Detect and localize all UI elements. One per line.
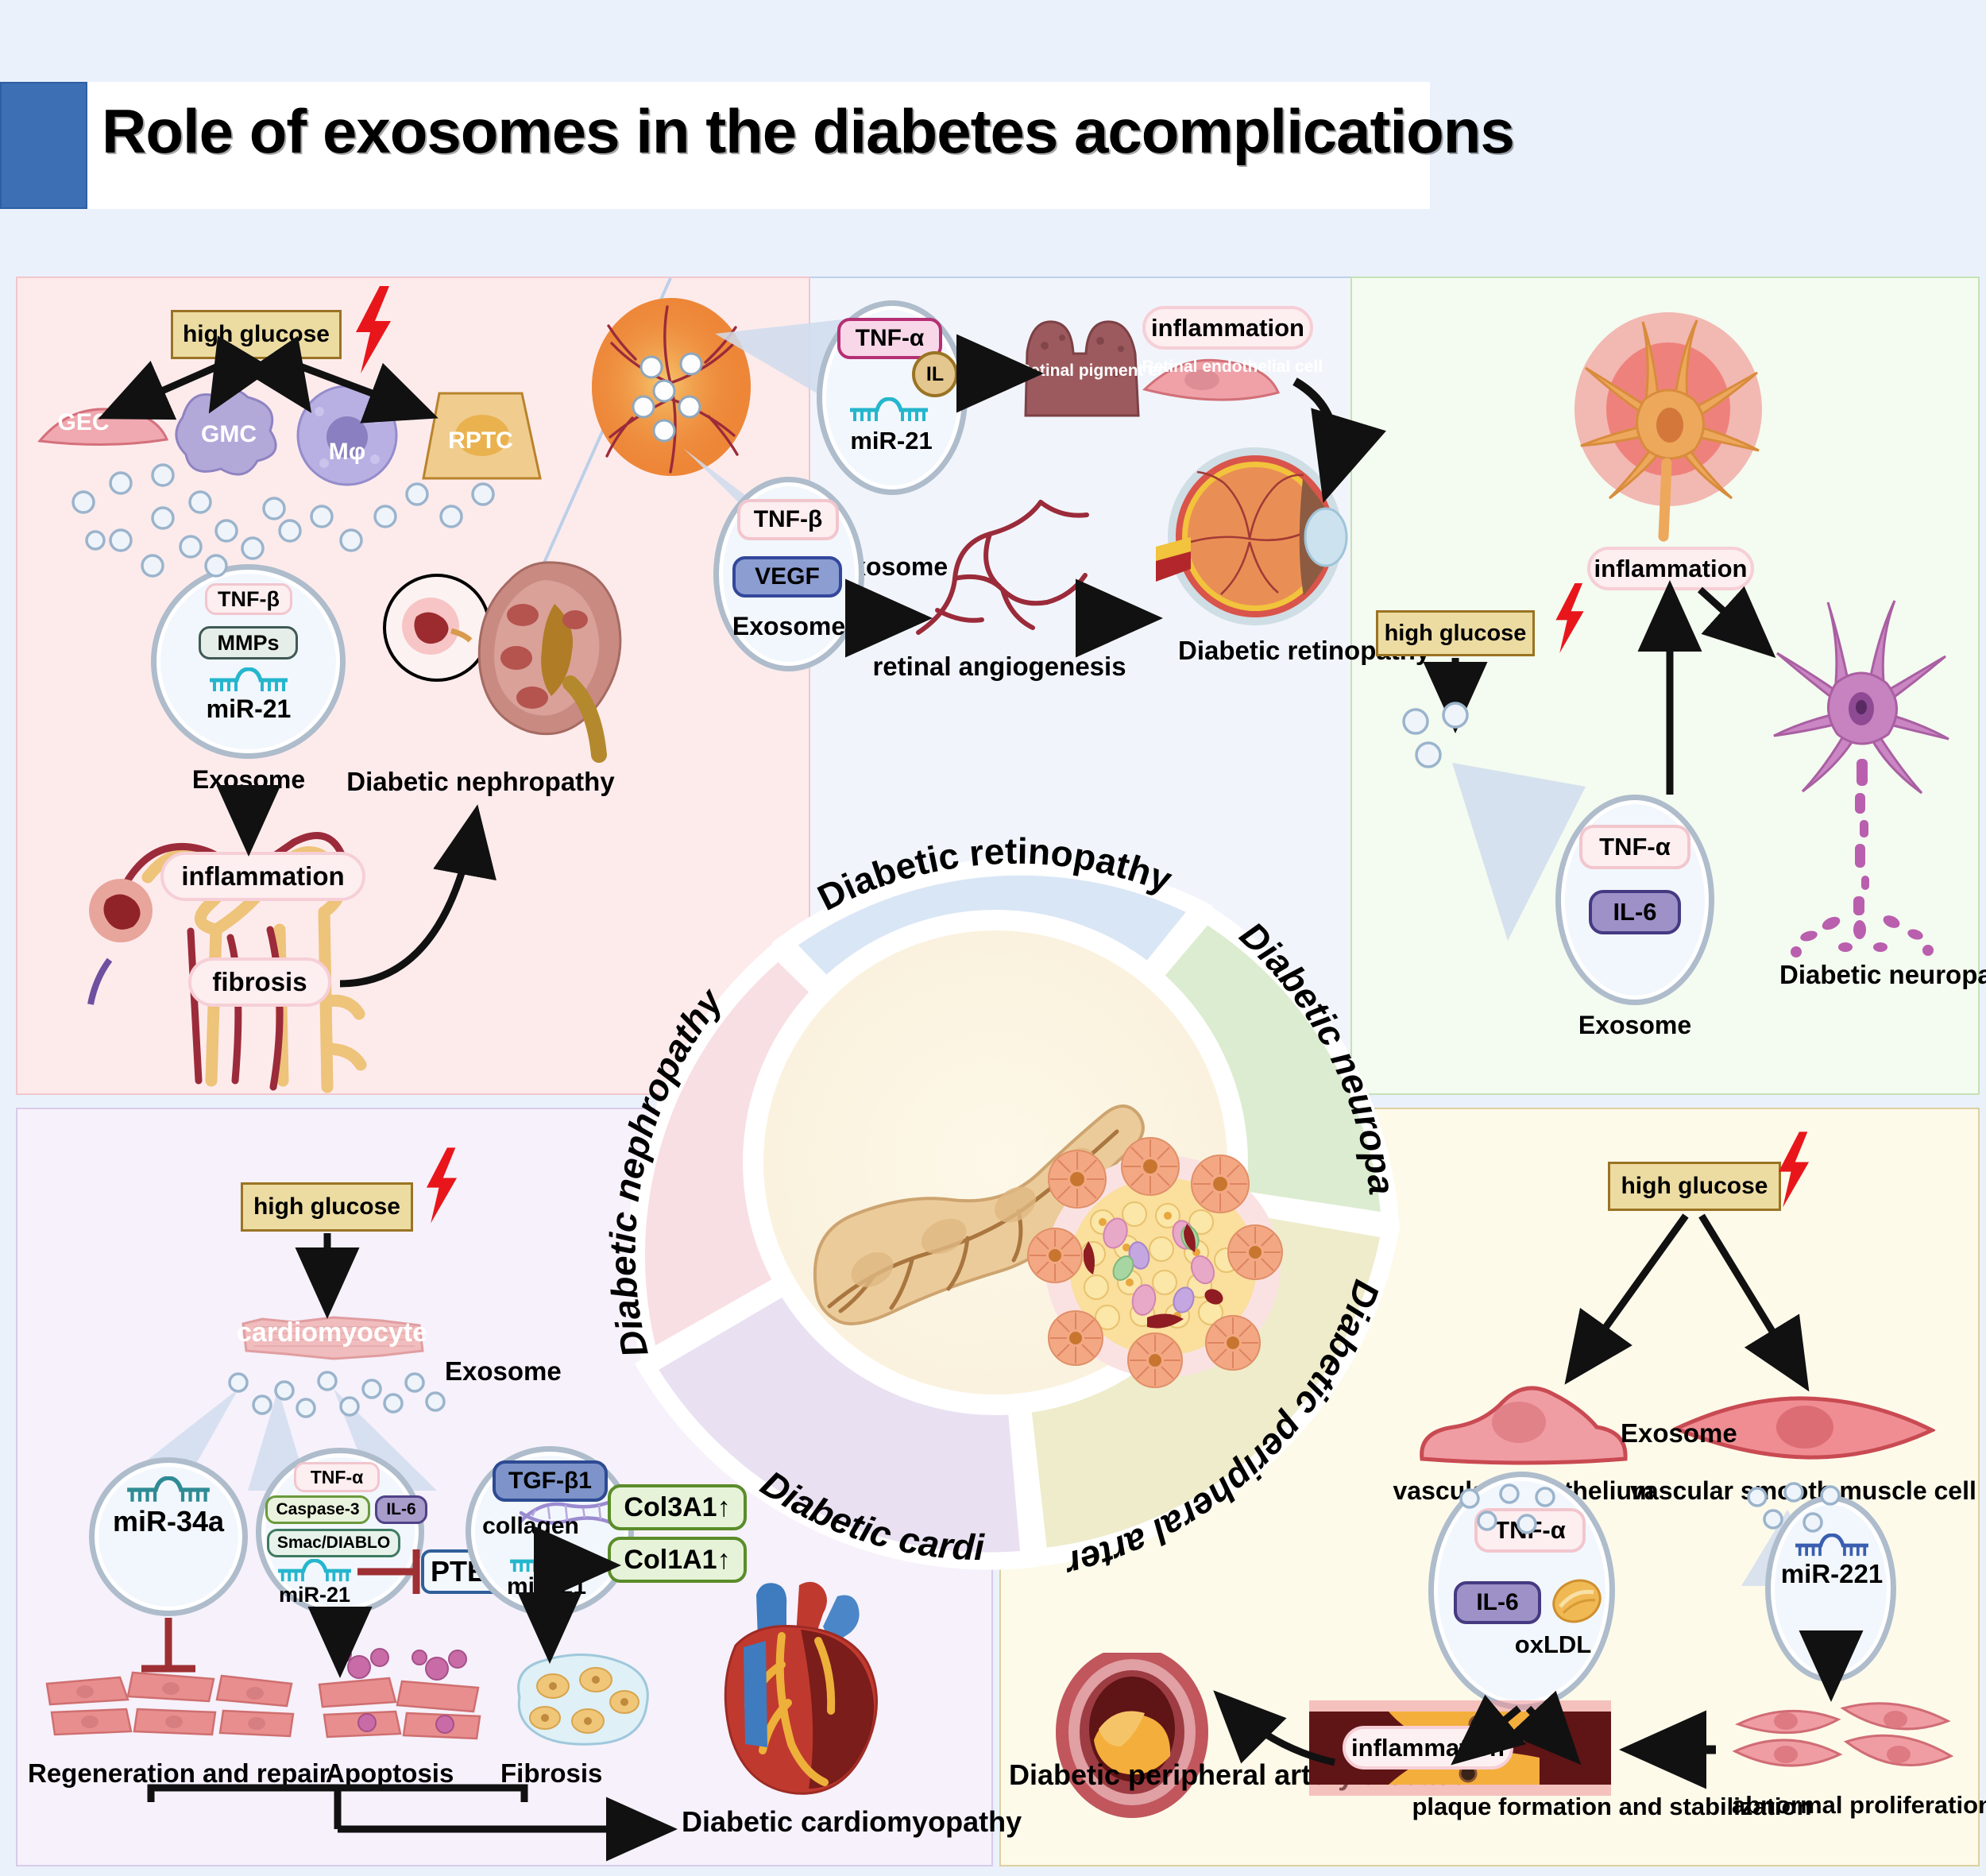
cardiomyopathy-mir34a-label: miR-34a (113, 1505, 224, 1538)
label-text: high glucose (183, 321, 330, 348)
pad-mir221-label: miR-221 (1781, 1559, 1883, 1589)
cargo-il: IL (912, 351, 958, 397)
retinopathy-inflammation-badge: inflammation (1142, 306, 1313, 350)
cargo-tnf-beta: TNF-β (205, 583, 292, 615)
pad-oxldl-label: oxLDL (1515, 1630, 1591, 1659)
neuropathy-exosome-caption: Exosome (1578, 1011, 1691, 1040)
cargo-il6: IL-6 (1589, 890, 1681, 934)
lightning-bolt-icon (350, 286, 397, 373)
cargo-smac-diablo: Smac/DIABLO (267, 1529, 400, 1557)
nephropathy-gec-label: GEC (57, 409, 109, 436)
retinopathy-disease-label: Diabetic retinopathy (1178, 636, 1329, 666)
retinopathy-endothelial-label: Retinal endothelial cell (1142, 358, 1281, 377)
neuropathy-high-glucose-box: high glucose (1376, 610, 1535, 656)
pad-inflammation-badge: inflammation (1343, 1726, 1513, 1770)
oxldl-particle-icon (1551, 1575, 1603, 1627)
nephropathy-fibrosis-badge: fibrosis (188, 957, 331, 1007)
nephropathy-exosome-caption: Exosome (192, 765, 305, 795)
cardiomyopathy-high-glucose-box: high glucose (241, 1182, 413, 1232)
neuropathy-damaged-neuron (1760, 580, 1958, 977)
title-accent-block (0, 82, 87, 209)
nephropathy-high-glucose-box: high glucose (171, 310, 342, 359)
cargo-vegf: VEGF (732, 556, 842, 598)
cargo-tnf-alpha: TNF-α (294, 1462, 380, 1492)
cardiomyopathy-exo2-mirna-label: miR-21 (279, 1583, 350, 1607)
cardiomyopathy-outcome-2: Apoptosis (326, 1758, 454, 1789)
pad-high-glucose-box: high glucose (1608, 1162, 1781, 1211)
mirna-hairpin-icon (276, 1559, 353, 1583)
cardiomyopathy-disease-label: Diabetic cardiomyopathy (682, 1805, 1022, 1839)
cargo-tnf-alpha: TNF-α (1579, 825, 1690, 869)
retinopathy-exosome-bottom-caption: Exosome (732, 612, 845, 641)
mirna-hairpin-icon (208, 667, 289, 693)
nephropathy-inflammation-badge: inflammation (160, 852, 365, 901)
cardiomyopathy-regeneration-tissue (44, 1665, 298, 1748)
label-text: high glucose (253, 1193, 400, 1220)
retinopathy-eye-illustration (1156, 445, 1354, 628)
mirna-hairpin-icon (1794, 1534, 1870, 1557)
retinopathy-mirna-label: miR-21 (850, 427, 932, 455)
cardiomyopathy-outcome-1: Regeneration and repair (28, 1758, 330, 1789)
islet-illustration (1028, 1138, 1282, 1387)
nephropathy-mirna-label: miR-21 (207, 694, 292, 724)
lightning-bolt-icon (421, 1144, 462, 1227)
lightning-bolt-icon (1551, 580, 1589, 656)
mirna-hairpin-icon (848, 397, 929, 423)
label-text: high glucose (1385, 621, 1527, 647)
cargo-mmps: MMPs (199, 626, 298, 660)
pad-outcome-1: plaque formation and stabilization (1412, 1792, 1615, 1821)
cardiomyopathy-apoptosis-tissue (316, 1645, 483, 1748)
neuropathy-disease-label: Diabetic neuropathy (1779, 960, 1938, 990)
nephropathy-gmc-label: GMC (201, 421, 257, 448)
page-title: Role of exosomes in the diabetes acompli… (102, 95, 1514, 168)
nephropathy-macrophage-cell (288, 380, 407, 491)
pad-cell-label-2: vascular smooth muscle cell (1630, 1476, 1976, 1506)
nephropathy-macrophage-label: Mφ (329, 439, 365, 466)
neuropathy-inflamed-neuron (1557, 306, 1779, 544)
pad-exosome-caption: Exosome (1621, 1418, 1737, 1449)
lightning-bolt-icon (1773, 1128, 1814, 1211)
retinopathy-rpe-label: Retinal pigment epithelial cell (1018, 362, 1146, 381)
retinopathy-angiogenesis-vessels (906, 491, 1096, 642)
central-wheel: Diabetic nephropathy Diabetic retinopath… (499, 666, 1492, 1659)
cargo-tnf-beta: TNF-β (737, 499, 839, 540)
pad-disease-label: Diabetic peripheral artery disease (1009, 1758, 1255, 1792)
neuropathy-inflammation-badge: inflammation (1587, 547, 1754, 590)
pad-proliferating-cells (1732, 1692, 1954, 1788)
cardiomyopathy-fibrosis-tissue (508, 1653, 655, 1748)
cardiomyopathy-outcome-3: Fibrosis (500, 1758, 602, 1789)
cargo-caspase3: Caspase-3 (265, 1495, 370, 1524)
pad-outcome-2: abnormal proliferation and migrations (1732, 1790, 1954, 1820)
label-text: high glucose (1621, 1173, 1768, 1200)
pad-artery-cross-section (1053, 1653, 1211, 1824)
nephropathy-rptc-label: RPTC (448, 427, 513, 454)
mirna-hairpin-icon (126, 1476, 211, 1503)
cargo-il6: IL-6 (375, 1495, 427, 1524)
cardiomyocyte-label: cardiomyocyte (237, 1317, 427, 1348)
